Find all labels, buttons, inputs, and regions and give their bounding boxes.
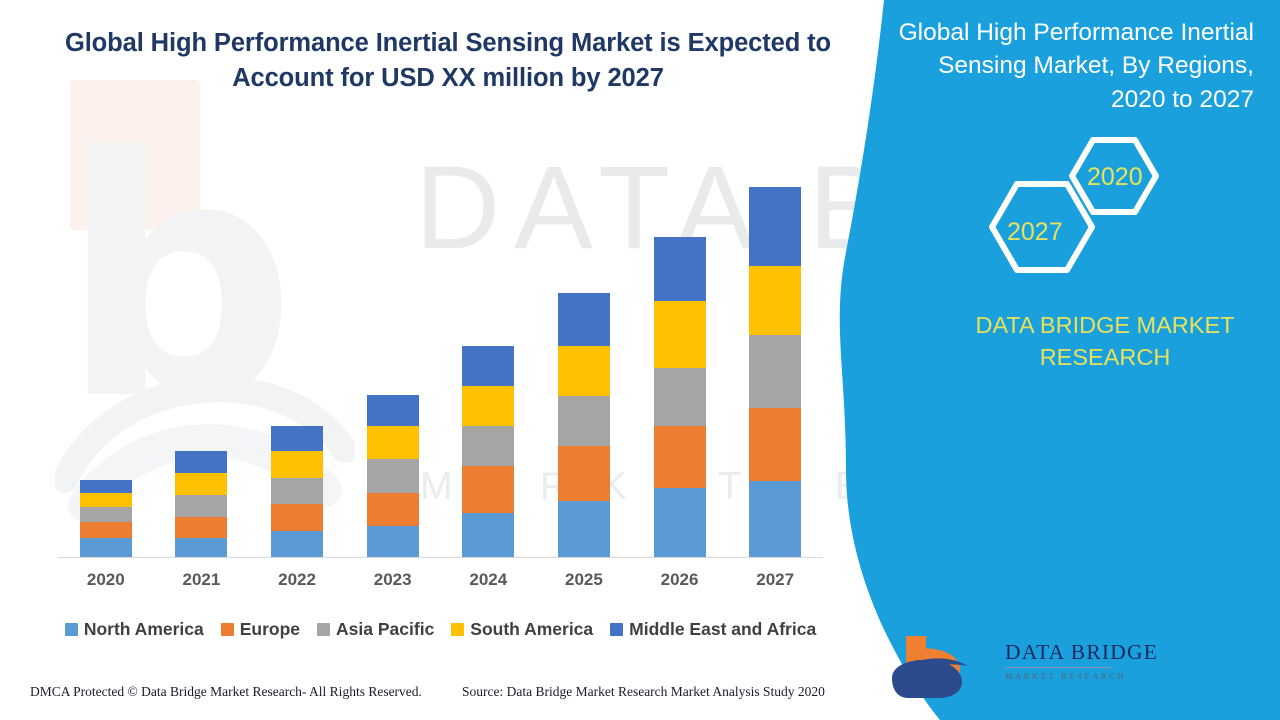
bar-segment-europe	[462, 466, 514, 513]
bar-2023	[367, 395, 419, 558]
bar-2022	[271, 426, 323, 558]
bar-segment-asia-pacific	[80, 507, 132, 522]
x-tick-label-2024: 2024	[440, 570, 536, 590]
bar-segment-europe	[80, 522, 132, 538]
bar-segment-middle-east-and-africa	[175, 451, 227, 473]
bar-segment-south-america	[271, 451, 323, 478]
bar-segment-asia-pacific	[367, 459, 419, 493]
legend-item-south-america[interactable]: South America	[451, 619, 593, 640]
legend-swatch-icon	[451, 623, 464, 636]
bar-2025	[558, 293, 610, 558]
x-axis-tick-labels: 20202021202220232024202520262027	[58, 570, 823, 596]
bar-segment-north-america	[749, 481, 801, 558]
bar-2024	[462, 346, 514, 558]
bar-2026	[654, 237, 706, 558]
bar-segment-asia-pacific	[271, 478, 323, 504]
bar-segment-north-america	[367, 526, 419, 558]
legend-swatch-icon	[610, 623, 623, 636]
bar-segment-europe	[654, 426, 706, 488]
bar-2020	[80, 480, 132, 558]
chart-title: Global High Performance Inertial Sensing…	[48, 26, 848, 96]
bar-segment-asia-pacific	[654, 368, 706, 426]
bar-segment-south-america	[175, 473, 227, 495]
bar-segment-south-america	[462, 386, 514, 426]
bar-segment-north-america	[175, 538, 227, 558]
x-tick-label-2022: 2022	[249, 570, 345, 590]
bar-segment-south-america	[367, 426, 419, 459]
x-tick-label-2020: 2020	[58, 570, 154, 590]
bar-segment-europe	[175, 517, 227, 538]
bar-segment-europe	[749, 408, 801, 481]
bar-segment-north-america	[654, 488, 706, 558]
logo-wordmark: DATA BRIDGE MARKET RESEARCH	[1005, 642, 1115, 681]
legend-item-europe[interactable]: Europe	[221, 619, 300, 640]
bar-segment-south-america	[654, 301, 706, 368]
legend-label: North America	[84, 619, 204, 640]
bar-segment-middle-east-and-africa	[271, 426, 323, 451]
bar-segment-asia-pacific	[749, 335, 801, 408]
bar-segment-asia-pacific	[175, 495, 227, 517]
bar-segment-south-america	[80, 493, 132, 507]
bar-segment-middle-east-and-africa	[80, 480, 132, 493]
bar-segment-north-america	[558, 501, 610, 558]
bar-segment-asia-pacific	[462, 426, 514, 466]
hexagon-start-year-label: 2020	[1087, 163, 1143, 192]
hexagon-outline-icons	[975, 128, 1205, 288]
logo-title-text: DATA BRIDGE	[1005, 642, 1115, 664]
logo-divider	[1005, 667, 1113, 668]
legend-item-middle-east-and-africa[interactable]: Middle East and Africa	[610, 619, 816, 640]
bar-segment-north-america	[80, 538, 132, 558]
x-axis-line	[58, 557, 823, 558]
legend-item-north-america[interactable]: North America	[65, 619, 204, 640]
bar-segment-middle-east-and-africa	[654, 237, 706, 301]
hexagon-badges: 2020 2027	[975, 128, 1205, 288]
bar-segment-middle-east-and-africa	[462, 346, 514, 386]
legend-label: Europe	[240, 619, 300, 640]
legend-swatch-icon	[317, 623, 330, 636]
legend-swatch-icon	[221, 623, 234, 636]
bar-segment-south-america	[749, 266, 801, 335]
bar-segment-middle-east-and-africa	[558, 293, 610, 346]
bar-segment-middle-east-and-africa	[367, 395, 419, 426]
x-tick-label-2026: 2026	[632, 570, 728, 590]
x-tick-label-2027: 2027	[727, 570, 823, 590]
legend-label: Asia Pacific	[336, 619, 434, 640]
bar-segment-north-america	[271, 531, 323, 558]
x-tick-label-2025: 2025	[536, 570, 632, 590]
panel-title: Global High Performance Inertial Sensing…	[888, 16, 1254, 116]
x-tick-label-2023: 2023	[345, 570, 441, 590]
legend-label: Middle East and Africa	[629, 619, 816, 640]
legend-item-asia-pacific[interactable]: Asia Pacific	[317, 619, 434, 640]
bar-2021	[175, 451, 227, 558]
hexagon-end-year-label: 2027	[1007, 218, 1063, 247]
bar-segment-north-america	[462, 513, 514, 558]
chart-legend: North AmericaEuropeAsia PacificSouth Ame…	[58, 616, 823, 642]
bar-segment-south-america	[558, 346, 610, 396]
footer-dmca-text: DMCA Protected © Data Bridge Market Rese…	[30, 684, 422, 700]
stacked-bar-chart	[58, 150, 823, 558]
bar-2027	[749, 187, 801, 558]
x-tick-label-2021: 2021	[153, 570, 249, 590]
infographic-slide: b DATA BRIDGE M A R K E T R E S E A R C …	[0, 0, 1280, 720]
legend-label: South America	[470, 619, 593, 640]
logo-subtitle-text: MARKET RESEARCH	[1005, 671, 1115, 681]
bar-segment-middle-east-and-africa	[749, 187, 801, 266]
bar-segment-europe	[367, 493, 419, 526]
legend-swatch-icon	[65, 623, 78, 636]
bar-segment-asia-pacific	[558, 396, 610, 446]
bar-segment-europe	[558, 446, 610, 501]
bar-segment-europe	[271, 504, 323, 531]
footer-source-text: Source: Data Bridge Market Research Mark…	[462, 684, 825, 700]
brand-name-text: DATA BRIDGE MARKET RESEARCH	[940, 310, 1270, 373]
